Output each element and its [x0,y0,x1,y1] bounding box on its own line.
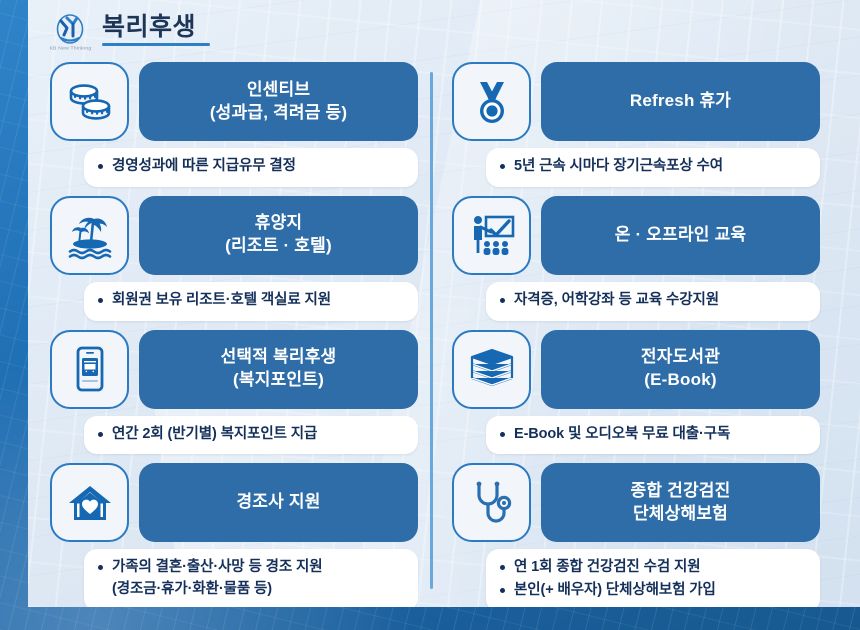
bullet-icon [98,298,103,303]
island-palm-tree-icon-tile [50,196,129,275]
card-title-line1: 전자도서관 [641,346,720,369]
card-title-pill: Refresh 휴가 [541,62,820,141]
bullet-icon [98,565,103,570]
card-head: 경조사 지원 [50,463,418,542]
description-bullet-line: 경영성과에 따른 지급유무 결정 [98,156,406,178]
card-head: 종합 건강검진 단체상해보험 [452,463,820,542]
title-block: 복리후생 [102,14,210,48]
card-head: Refresh 휴가 [452,62,820,141]
page-title: 복리후생 [102,14,210,40]
card-title-line1: 인센티브 [247,79,310,102]
description-bullet-line: E-Book 및 오디오북 무료 대출·구독 [500,424,808,446]
card-title-line2: (성과급, 격려금 등) [210,102,347,125]
benefit-card-family-events[interactable]: 경조사 지원 가족의 결혼·출산·사망 등 경조 지원 (경조금·휴가·화환·물… [50,463,418,607]
description-text: 회원권 보유 리조트·호텔 객실료 지원 [112,290,331,312]
description-text: 경영성과에 따른 지급유무 결정 [112,156,296,178]
card-description: 경영성과에 따른 지급유무 결정 [84,148,418,187]
logo: KB New Thinking [48,7,92,55]
bullet-icon [500,588,505,593]
medal-icon [465,75,519,129]
books-stack-icon [465,342,519,396]
description-bullet-line: 가족의 결혼·출산·사망 등 경조 지원 [98,557,406,579]
benefits-content: 인센티브 (성과급, 격려금 등) 경영성과에 따른 지급유무 결정 [28,62,860,607]
bullet-icon [98,432,103,437]
card-description: 가족의 결혼·출산·사망 등 경조 지원 (경조금·휴가·화환·물품 등) [84,549,418,607]
card-title-pill: 온 · 오프라인 교육 [541,196,820,275]
classroom-teaching-icon [465,208,519,262]
bullet-icon [500,565,505,570]
card-title-line1: 온 · 오프라인 교육 [615,224,747,247]
description-text: E-Book 및 오디오북 무료 대출·구독 [514,424,730,446]
card-title-line2: 단체상해보험 [633,503,728,526]
card-description: 자격증, 어학강좌 등 교육 수강지원 [486,282,820,321]
card-description: 회원권 보유 리조트·호텔 객실료 지원 [84,282,418,321]
column-divider [430,72,433,589]
house-heart-icon-tile [50,463,129,542]
smartphone-shopping-cart-icon-tile [50,330,129,409]
benefit-card-resort[interactable]: 휴양지 (리조트 · 호텔) 회원권 보유 리조트·호텔 객실료 지원 [50,196,418,321]
description-text: 가족의 결혼·출산·사망 등 경조 지원 [112,557,323,579]
description-bullet-line: 5년 근속 시마다 장기근속포상 수여 [500,156,808,178]
card-head: 인센티브 (성과급, 격려금 등) [50,62,418,141]
content-panel: KB New Thinking 복리후생 [28,0,860,607]
stethoscope-icon [465,476,519,530]
description-text: 연간 2회 (반기별) 복지포인트 지급 [112,424,317,446]
benefit-card-ebook-library[interactable]: 전자도서관 (E-Book) E-Book 및 오디오북 무료 대출·구독 [452,330,820,455]
description-text: 5년 근속 시마다 장기근속포상 수여 [514,156,723,178]
left-column: 인센티브 (성과급, 격려금 등) 경영성과에 따른 지급유무 결정 [50,62,418,607]
page-header: KB New Thinking 복리후생 [28,0,860,62]
card-title-pill: 선택적 복리후생 (복지포인트) [139,330,418,409]
benefit-card-incentive[interactable]: 인센티브 (성과급, 격려금 등) 경영성과에 따른 지급유무 결정 [50,62,418,187]
house-heart-icon [63,476,117,530]
right-column: Refresh 휴가 5년 근속 시마다 장기근속포상 수여 [452,62,820,607]
company-logo-icon [53,12,87,45]
smartphone-shopping-cart-icon [63,342,117,396]
card-title-line2: (리조트 · 호텔) [225,235,332,258]
card-title-line2: (복지포인트) [233,369,324,392]
card-title-line2: (E-Book) [644,369,716,392]
description-bullet-line: 자격증, 어학강좌 등 교육 수강지원 [500,290,808,312]
bullet-icon [98,164,103,169]
card-title-line1: Refresh 휴가 [630,90,731,113]
island-palm-tree-icon [63,208,117,262]
description-bullet-line: 본인(+ 배우자) 단체상해보험 가입 [500,580,808,602]
coins-stack-icon [63,75,117,129]
description-text: 본인(+ 배우자) 단체상해보험 가입 [514,580,716,602]
benefit-card-education[interactable]: 온 · 오프라인 교육 자격증, 어학강좌 등 교육 수강지원 [452,196,820,321]
card-description: 연 1회 종합 건강검진 수검 지원 본인(+ 배우자) 단체상해보험 가입 [486,549,820,607]
description-bullet-line: 연 1회 종합 건강검진 수검 지원 [500,557,808,579]
card-title-line1: 선택적 복리후생 [221,346,337,369]
benefit-card-refresh-vacation[interactable]: Refresh 휴가 5년 근속 시마다 장기근속포상 수여 [452,62,820,187]
benefit-card-health-checkup[interactable]: 종합 건강검진 단체상해보험 연 1회 종합 건강검진 수검 지원 본인(+ 배… [452,463,820,607]
card-title-pill: 종합 건강검진 단체상해보험 [541,463,820,542]
card-title-pill: 전자도서관 (E-Book) [541,330,820,409]
card-title-pill: 인센티브 (성과급, 격려금 등) [139,62,418,141]
card-description: E-Book 및 오디오북 무료 대출·구독 [486,416,820,455]
card-title-line1: 종합 건강검진 [631,480,731,503]
card-title-line1: 휴양지 [255,212,303,235]
description-text: 자격증, 어학강좌 등 교육 수강지원 [514,290,719,312]
card-description: 연간 2회 (반기별) 복지포인트 지급 [84,416,418,455]
card-description: 5년 근속 시마다 장기근속포상 수여 [486,148,820,187]
bullet-icon [500,164,505,169]
card-head: 선택적 복리후생 (복지포인트) [50,330,418,409]
bullet-icon [500,298,505,303]
infographic-page: KB New Thinking 복리후생 [0,0,860,630]
classroom-teaching-icon-tile [452,196,531,275]
coins-stack-icon-tile [50,62,129,141]
stethoscope-icon-tile [452,463,531,542]
logo-tagline: KB New Thinking [49,45,91,51]
card-title-line1: 경조사 지원 [236,491,320,514]
description-text: 연 1회 종합 건강검진 수검 지원 [514,557,701,579]
card-title-pill: 경조사 지원 [139,463,418,542]
books-stack-icon-tile [452,330,531,409]
card-head: 온 · 오프라인 교육 [452,196,820,275]
description-continuation: (경조금·휴가·화환·물품 등) [98,579,406,601]
card-head: 전자도서관 (E-Book) [452,330,820,409]
bullet-icon [500,432,505,437]
title-underline [102,43,210,46]
card-title-pill: 휴양지 (리조트 · 호텔) [139,196,418,275]
description-bullet-line: 회원권 보유 리조트·호텔 객실료 지원 [98,290,406,312]
description-bullet-line: 연간 2회 (반기별) 복지포인트 지급 [98,424,406,446]
benefit-card-welfare-points[interactable]: 선택적 복리후생 (복지포인트) 연간 2회 (반기별) 복지포인트 지급 [50,330,418,455]
card-head: 휴양지 (리조트 · 호텔) [50,196,418,275]
medal-icon-tile [452,62,531,141]
